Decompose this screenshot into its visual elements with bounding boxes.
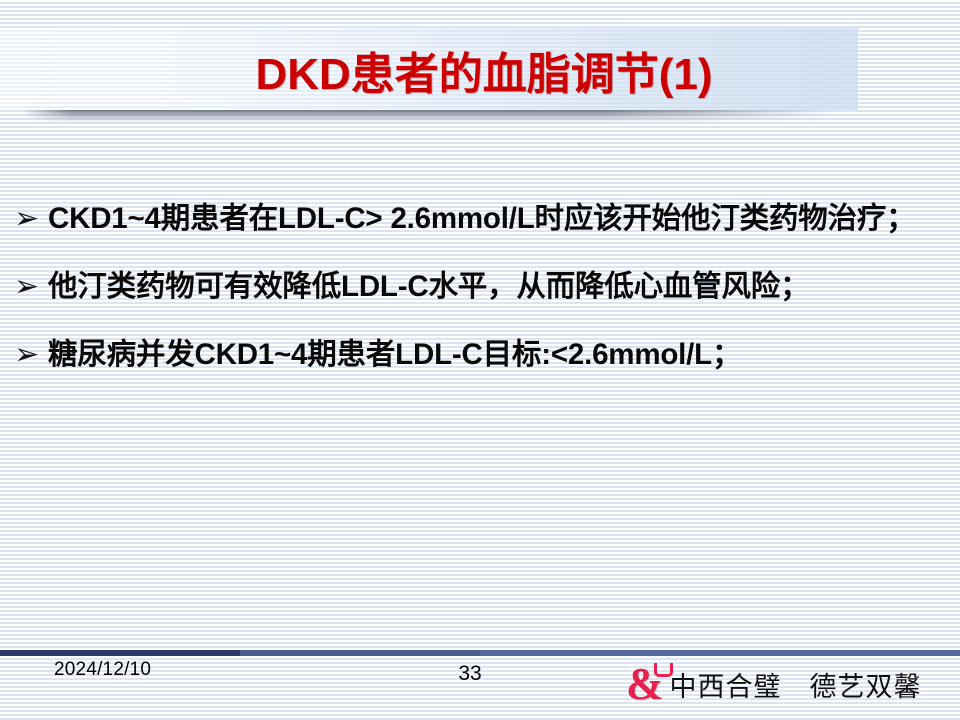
ampersand-icon: & <box>626 662 664 707</box>
list-item: ➢ 糖尿病并发CKD1~4期患者LDL-C目标:<2.6mmol/L； <box>14 332 946 378</box>
brand-logo: & 中西合璧 德艺双馨 <box>626 659 922 709</box>
list-item-text: 他汀类药物可有效降低LDL-C水平，从而降低心血管风险； <box>48 264 946 310</box>
list-item-text: CKD1~4期患者在LDL-C> 2.6mmol/L时应该开始他汀类药物治疗； <box>48 196 946 242</box>
slide-canvas: DKD患者的血脂调节(1) ➢ CKD1~4期患者在LDL-C> 2.6mmol… <box>0 0 960 720</box>
list-item: ➢ CKD1~4期患者在LDL-C> 2.6mmol/L时应该开始他汀类药物治疗… <box>14 196 946 242</box>
list-item: ➢ 他汀类药物可有效降低LDL-C水平，从而降低心血管风险； <box>14 264 946 310</box>
arrow-bullet-icon: ➢ <box>14 264 48 309</box>
bullet-list: ➢ CKD1~4期患者在LDL-C> 2.6mmol/L时应该开始他汀类药物治疗… <box>14 196 946 626</box>
brand-logo-text: 中西合璧 德艺双馨 <box>670 665 922 704</box>
list-item-text: 糖尿病并发CKD1~4期患者LDL-C目标:<2.6mmol/L； <box>48 332 946 378</box>
slide-number: 33 <box>440 662 500 686</box>
footer-date: 2024/12/10 <box>54 659 151 681</box>
footer-divider-middle <box>240 650 480 656</box>
footer-divider-right <box>480 650 960 656</box>
arrow-bullet-icon: ➢ <box>14 196 48 241</box>
footer-divider-left <box>0 650 240 656</box>
arrow-bullet-icon: ➢ <box>14 332 48 377</box>
title-band-shadow <box>22 110 832 124</box>
page-title: DKD患者的血脂调节(1) <box>0 33 858 107</box>
